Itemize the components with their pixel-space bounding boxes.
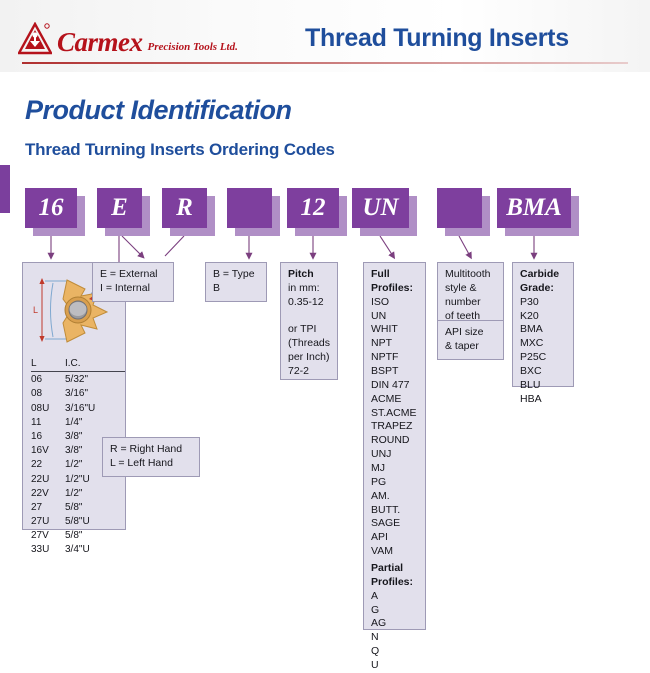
grade-title-0: Carbide: [520, 268, 567, 282]
external-internal-box: E = External I = Internal: [92, 262, 174, 302]
full-profile-item: TRAPEZ: [371, 420, 419, 434]
size-table-row: 22V1/2": [31, 487, 125, 501]
size-cell-ic: 1/2": [65, 487, 125, 501]
grade-title-1: Grade:: [520, 282, 567, 296]
full-profile-item: WHIT: [371, 323, 419, 337]
direction-box: R = Right Hand L = Left Hand: [102, 437, 200, 477]
carbide-grade-box: Carbide Grade: P30K20BMAMXCP25CBXCBLUHBA: [512, 262, 574, 387]
grade-item: BMA: [520, 323, 567, 337]
size-cell-l: 22U: [31, 473, 65, 487]
grade-item: P25C: [520, 351, 567, 365]
size-table-row: 27U5/8"U: [31, 515, 125, 529]
size-cell-l: 16V: [31, 444, 65, 458]
size-cell-ic: 5/8": [65, 529, 125, 543]
size-cell-l: 33U: [31, 543, 65, 557]
size-cell-l: 27U: [31, 515, 65, 529]
direction-line-0: R = Right Hand: [110, 443, 193, 457]
partial-profile-item: AG: [371, 617, 419, 631]
code-box-blank-3[interactable]: [227, 188, 272, 228]
partial-profile-item: G: [371, 604, 419, 618]
partial-profiles-title-0: Partial: [371, 562, 419, 576]
size-table-row: 27V5/8": [31, 529, 125, 543]
code-box-bma[interactable]: BMA: [497, 188, 571, 228]
grade-item: P30: [520, 296, 567, 310]
size-cell-l: 22V: [31, 487, 65, 501]
pitch-line: 0.35-12: [288, 296, 331, 310]
api-line: API size: [445, 326, 497, 340]
full-profile-item: DIN 477: [371, 379, 419, 393]
code-box-12[interactable]: 12: [287, 188, 339, 228]
svg-text:L: L: [33, 305, 38, 315]
full-profile-item: UNJ: [371, 448, 419, 462]
full-profiles-title-0: Full: [371, 268, 419, 282]
type-box: B = Type B: [205, 262, 267, 302]
pitch-line: 72-2: [288, 365, 331, 379]
full-profile-item: UN: [371, 310, 419, 324]
partial-profile-item: Q: [371, 645, 419, 659]
multitooth-line: style &: [445, 282, 497, 296]
size-cell-l: 08: [31, 387, 65, 401]
direction-line-1: L = Left Hand: [110, 457, 193, 471]
size-cell-l: 16: [31, 430, 65, 444]
code-box-e[interactable]: E: [97, 188, 142, 228]
full-profile-item: SAGE: [371, 517, 419, 531]
size-table-row: 111/4": [31, 416, 125, 430]
insert-dimension-box: L I.C. L I.C. 065/32"083/16"08U3/16"U111…: [22, 262, 126, 530]
pitch-line: (Threads: [288, 337, 331, 351]
full-profile-item: AM. BUTT.: [371, 490, 419, 518]
partial-profiles-title-1: Profiles:: [371, 576, 419, 590]
hand-line-1: I = Internal: [100, 282, 167, 296]
full-profiles-title-1: Profiles:: [371, 282, 419, 296]
size-table-header-ic: I.C.: [65, 357, 125, 371]
multitooth-line: Multitooth: [445, 268, 497, 282]
size-cell-ic: 5/32": [65, 373, 125, 387]
full-profile-item: NPT: [371, 337, 419, 351]
size-cell-l: 22: [31, 458, 65, 472]
hand-line-0: E = External: [100, 268, 167, 282]
grade-item: BXC: [520, 365, 567, 379]
grade-item: HBA: [520, 393, 567, 407]
size-table-row: 065/32": [31, 373, 125, 387]
full-profile-item: VAM: [371, 545, 419, 559]
size-cell-ic: 5/8"U: [65, 515, 125, 529]
size-cell-l: 06: [31, 373, 65, 387]
partial-profile-item: U: [371, 659, 419, 673]
pitch-line: or TPI: [288, 323, 331, 337]
full-profile-item: PG: [371, 476, 419, 490]
size-table-row: 33U3/4"U: [31, 543, 125, 557]
pitch-line: [288, 310, 331, 324]
size-cell-ic: 3/4"U: [65, 543, 125, 557]
size-table-header: L I.C.: [31, 357, 125, 372]
pitch-box: Pitch in mm:0.35-12 or TPI(Threadsper In…: [280, 262, 338, 380]
full-profile-item: ACME: [371, 393, 419, 407]
size-table-row: 08U3/16"U: [31, 402, 125, 416]
full-profile-item: ST.ACME: [371, 407, 419, 421]
size-cell-l: 08U: [31, 402, 65, 416]
grade-item: MXC: [520, 337, 567, 351]
size-cell-ic: 3/16": [65, 387, 125, 401]
api-line: & taper: [445, 340, 497, 354]
api-box: API size& taper: [437, 320, 504, 360]
full-profile-item: BSPT: [371, 365, 419, 379]
size-cell-l: 11: [31, 416, 65, 430]
size-table-row: 275/8": [31, 501, 125, 515]
full-profile-item: ISO: [371, 296, 419, 310]
pitch-line: in mm:: [288, 282, 331, 296]
full-profile-item: API: [371, 531, 419, 545]
size-table-header-l: L: [31, 357, 65, 371]
grade-item: BLU: [520, 379, 567, 393]
code-box-16[interactable]: 16: [25, 188, 77, 228]
size-cell-ic: 3/16"U: [65, 402, 125, 416]
type-line-0: B = Type B: [213, 268, 260, 296]
size-cell-ic: 5/8": [65, 501, 125, 515]
code-box-un[interactable]: UN: [352, 188, 409, 228]
grade-item: K20: [520, 310, 567, 324]
pitch-title: Pitch: [288, 268, 331, 282]
size-cell-l: 27V: [31, 529, 65, 543]
multitooth-line: number: [445, 296, 497, 310]
profiles-box: Full Profiles: ISOUNWHITNPTNPTFBSPTDIN 4…: [363, 262, 426, 630]
partial-profile-item: N: [371, 631, 419, 645]
full-profile-item: ROUND: [371, 434, 419, 448]
full-profile-item: MJ: [371, 462, 419, 476]
size-cell-ic: 1/4": [65, 416, 125, 430]
full-profile-item: NPTF: [371, 351, 419, 365]
code-box-blank-6[interactable]: [437, 188, 482, 228]
pitch-line: per Inch): [288, 351, 331, 365]
code-box-r[interactable]: R: [162, 188, 207, 228]
size-table-row: 083/16": [31, 387, 125, 401]
size-cell-l: 27: [31, 501, 65, 515]
partial-profile-item: A: [371, 590, 419, 604]
